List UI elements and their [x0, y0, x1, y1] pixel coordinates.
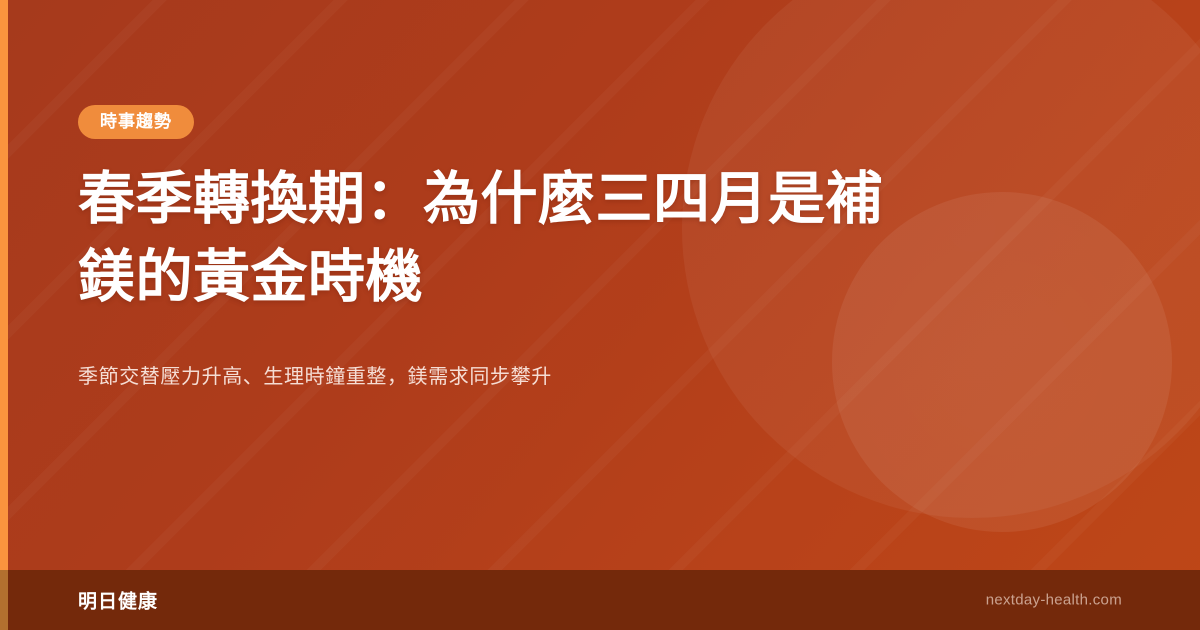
- page-subtitle: 季節交替壓力升高、生理時鐘重整，鎂需求同步攀升: [78, 362, 978, 392]
- brand-name: 明日健康: [78, 587, 158, 614]
- category-badge[interactable]: 時事趨勢: [78, 105, 194, 139]
- left-accent-bar-footer-segment: [0, 570, 8, 630]
- site-url: nextday-health.com: [986, 592, 1122, 609]
- page-title: 春季轉換期：為什麼三四月是補鎂的黃金時機: [78, 160, 918, 316]
- card-footer: 明日健康 nextday-health.com: [0, 570, 1200, 630]
- left-accent-bar: [0, 0, 8, 630]
- social-share-card: 時事趨勢 春季轉換期：為什麼三四月是補鎂的黃金時機 季節交替壓力升高、生理時鐘重…: [0, 0, 1200, 630]
- card-content: 時事趨勢 春季轉換期：為什麼三四月是補鎂的黃金時機 季節交替壓力升高、生理時鐘重…: [78, 0, 1140, 570]
